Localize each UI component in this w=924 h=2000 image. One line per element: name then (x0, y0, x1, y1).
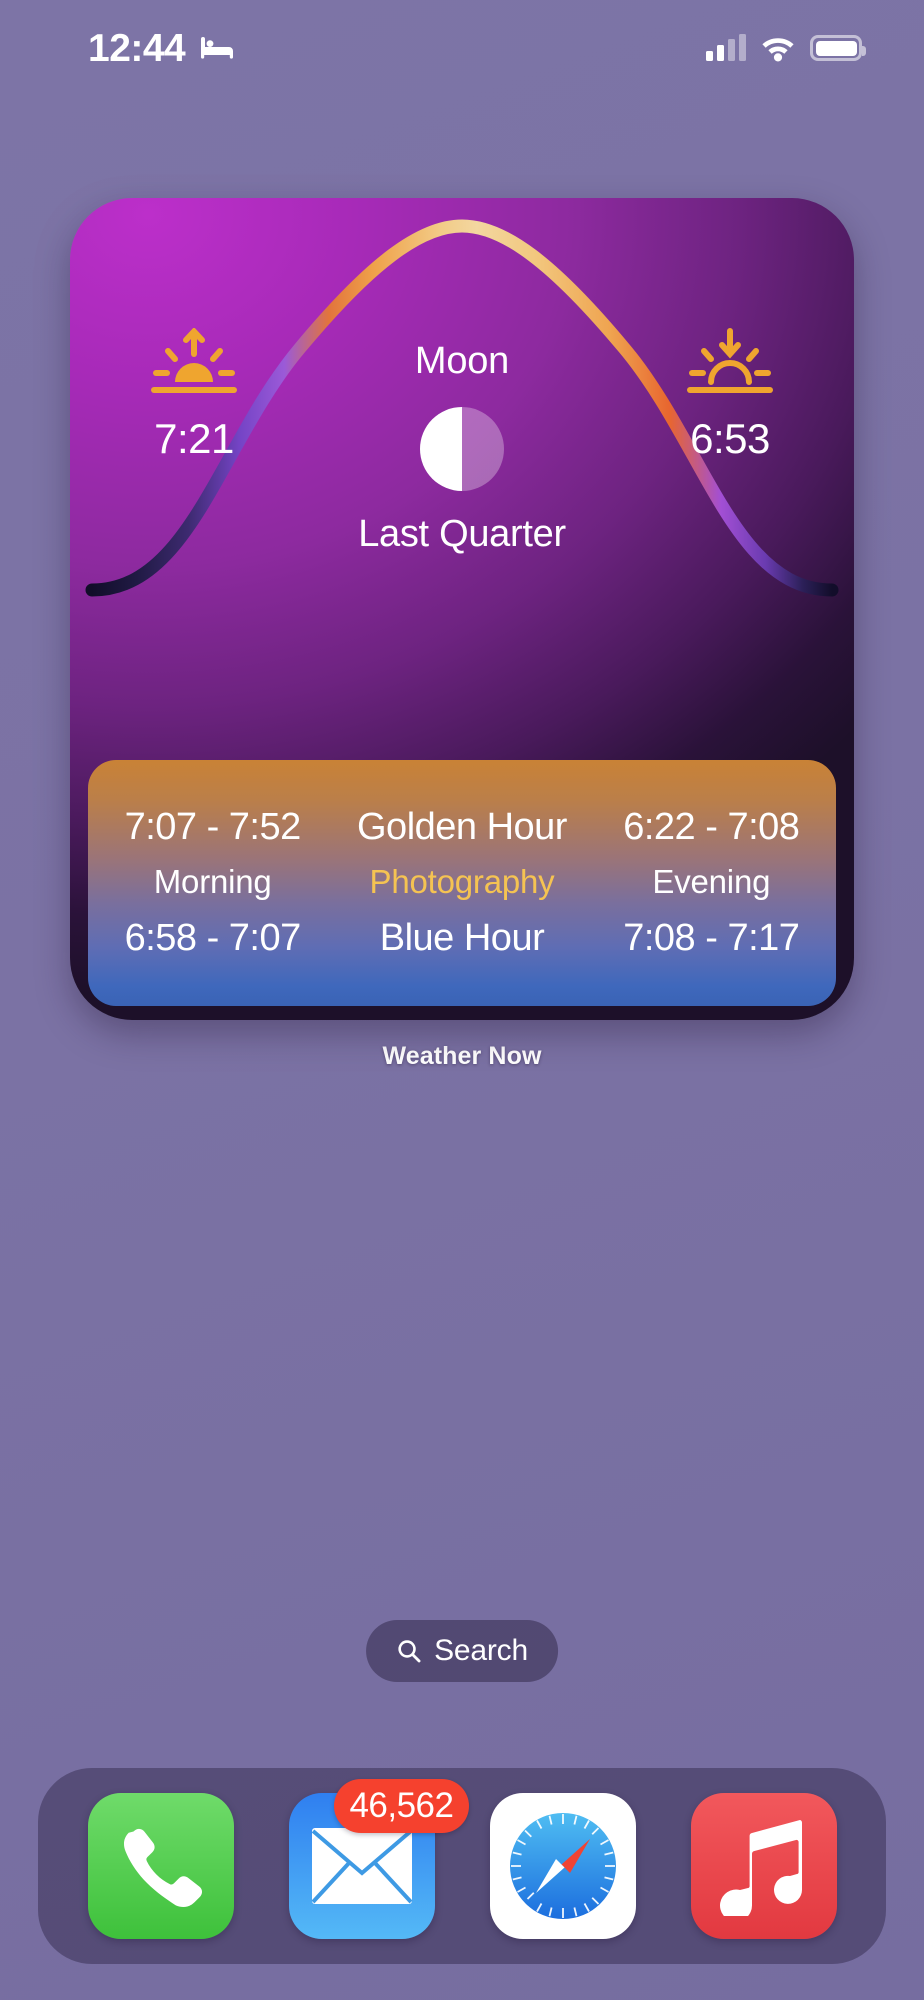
status-bar: 12:44 (0, 0, 924, 96)
safari-compass-icon (500, 1803, 626, 1929)
safari-app-tile[interactable] (490, 1793, 636, 1939)
moon-phase-label: Last Quarter (358, 513, 566, 556)
photography-panel: 7:07 - 7:52 Golden Hour 6:22 - 7:08 Morn… (88, 760, 836, 1006)
status-bar-right (706, 35, 862, 62)
evening-label: Evening (587, 863, 836, 901)
dock-app-music[interactable] (691, 1793, 837, 1939)
search-label: Search (434, 1634, 528, 1668)
status-bar-clock: 12:44 (88, 29, 185, 68)
music-note-icon (716, 1816, 812, 1916)
blue-hour-label: Blue Hour (337, 917, 586, 960)
music-app-tile[interactable] (691, 1793, 837, 1939)
dock-app-phone[interactable] (88, 1793, 234, 1939)
weather-now-widget[interactable]: 7:21 6:53 Moon Last Qua (70, 198, 854, 1071)
golden-hour-label: Golden Hour (337, 806, 586, 849)
dock-app-mail[interactable]: 46,562 (289, 1793, 435, 1939)
mail-icon (310, 1826, 414, 1906)
moon-block: Moon Last Quarter (70, 340, 854, 556)
moon-phase-last-quarter-icon (420, 407, 504, 491)
mail-badge: 46,562 (334, 1779, 468, 1833)
photography-section-label: Photography (337, 863, 586, 901)
search-button[interactable]: Search (366, 1620, 558, 1682)
dock: 46,562 (38, 1768, 886, 1964)
blue-hour-row: 6:58 - 7:07 Blue Hour 7:08 - 7:17 (88, 917, 836, 960)
golden-hour-evening-time: 6:22 - 7:08 (587, 806, 836, 849)
photography-labels-row: Morning Photography Evening (88, 863, 836, 901)
cellular-signal-icon (706, 35, 746, 61)
dock-app-safari[interactable] (490, 1793, 636, 1939)
widget-title: Weather Now (70, 1042, 854, 1071)
battery-icon (810, 35, 862, 61)
golden-hour-morning-time: 7:07 - 7:52 (88, 806, 337, 849)
wifi-icon (760, 35, 796, 62)
bed-icon (199, 35, 233, 61)
phone-app-tile[interactable] (88, 1793, 234, 1939)
phone-icon (109, 1814, 213, 1918)
golden-hour-row: 7:07 - 7:52 Golden Hour 6:22 - 7:08 (88, 806, 836, 849)
moon-label: Moon (415, 340, 509, 383)
search-icon (396, 1638, 422, 1664)
status-bar-left: 12:44 (88, 29, 233, 68)
blue-hour-evening-time: 7:08 - 7:17 (587, 917, 836, 960)
blue-hour-morning-time: 6:58 - 7:07 (88, 917, 337, 960)
widget-card[interactable]: 7:21 6:53 Moon Last Qua (70, 198, 854, 1020)
morning-label: Morning (88, 863, 337, 901)
